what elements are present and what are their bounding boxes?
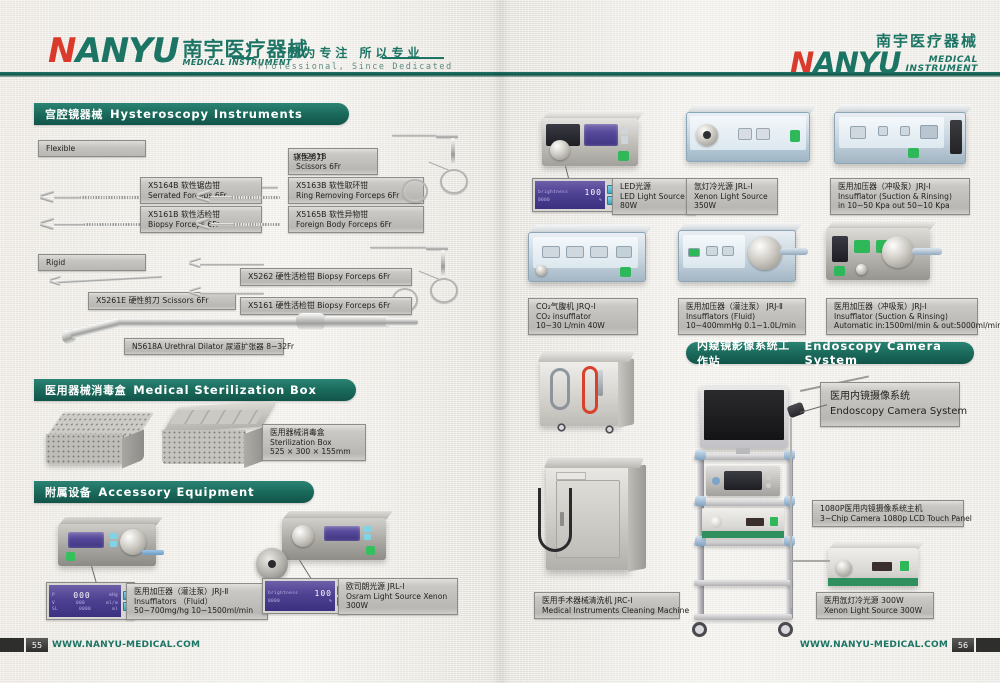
display — [872, 562, 892, 571]
light-guide-cable — [790, 418, 792, 608]
website-url-right: WWW.NANYU-MEDICAL.COM — [800, 638, 948, 652]
disp-unit: mHg — [109, 593, 118, 598]
item-cn: 软性异物钳 — [329, 210, 368, 219]
callout-insufflator-display: P000mHg V000ml/m SL0000ml — [46, 582, 135, 620]
item-en: Insufflator (Suction & Rinsing) — [834, 312, 970, 321]
disp-value: 000 — [76, 601, 85, 606]
power-led — [900, 561, 909, 571]
item-code: X5161B — [148, 210, 179, 219]
disp-key: SL — [52, 607, 58, 612]
item-en: Scissors 6Fr — [162, 296, 208, 305]
device-insufflator-suction-rinsing-1 — [834, 112, 966, 164]
spray-gun — [598, 370, 603, 396]
disp-unit: ml — [112, 607, 118, 612]
device-osram-light-source — [282, 518, 386, 560]
group-label-flexible: Flexible — [38, 140, 146, 157]
item-size: 8~32Fr — [266, 342, 294, 351]
item-cn: 1080P医用内镜摄像系统主机 — [820, 504, 956, 514]
footer-bar-right — [976, 638, 1000, 652]
cart-shelf — [694, 540, 792, 546]
ccu-knob[interactable] — [712, 477, 720, 485]
label-sterilization-box: 医用器械消毒盒 Sterilization Box 525 × 300 × 15… — [262, 424, 366, 461]
item-cn: 医用加压器（灌注泵）JRJ-Ⅱ — [134, 587, 260, 597]
disp-key: P — [52, 593, 55, 598]
label-x5262: X5262 硬性活检钳 Biopsy Forceps 6Fr — [240, 268, 412, 286]
disp-key: 0000 — [268, 599, 280, 604]
item-cn: 软性锯齿钳 — [181, 181, 220, 190]
item-cn-text: 软性剪刀 — [293, 153, 324, 162]
jaw-icon — [40, 219, 54, 228]
jaw-icon — [189, 288, 201, 296]
monitor — [700, 386, 788, 448]
device-cleaning-machine-upper — [540, 352, 636, 426]
item-cn: 医用氙灯冷光源 300W — [824, 596, 926, 606]
item-cn: 尿道扩张器 — [226, 342, 264, 351]
jaw-icon — [196, 219, 210, 228]
label-cleaning-machine: 医用手术器械清洗机 JRC-Ⅰ Medical Instruments Clea… — [534, 592, 680, 619]
page-footer: 55 WWW.NANYU-MEDICAL.COM WWW.NANYU-MEDIC… — [0, 637, 1000, 683]
item-en: Osram Light Source Xenon — [346, 592, 450, 601]
item-en: Sterilization Box — [270, 438, 358, 447]
label-xenon-light-source: 氙灯冷光源 JRL-Ⅰ Xenon Light Source 350W — [686, 178, 778, 215]
jaw-icon — [196, 192, 210, 201]
light-display — [746, 518, 764, 526]
section-title-en: Accessory Equipment — [98, 485, 254, 499]
label-n5618a-dilator: N5618A Urethral Dilator 尿道扩张器 8~32Fr — [124, 338, 284, 355]
label-led-light-source: LED光源 LED Light Source 80W — [612, 178, 696, 215]
item-cn: 硬性剪刀 — [129, 296, 160, 305]
section-header-hysteroscopy: 宫腔镜器械 Hysteroscopy Instruments — [34, 103, 349, 125]
item-spec: 10~30 L/min 40W — [536, 321, 630, 330]
item-en: Xenon Light Source — [694, 192, 770, 201]
item-en: Insufflators (Fluid) — [686, 312, 798, 321]
item-code: X5164B — [148, 181, 179, 190]
finger-ring-icon — [430, 278, 458, 303]
item-code: X5161 — [248, 301, 273, 310]
section-header-camera-system: 内窥镜影像系统工作站 Endoscopy Camera System — [686, 342, 974, 364]
item-spec: 50~700mg/hg 10~1500ml/min — [134, 606, 260, 615]
power-led — [908, 148, 919, 158]
pump-tube — [780, 248, 808, 255]
item-cn: 医用加压器（灌注泵） JRJ-Ⅱ — [686, 302, 798, 312]
power-led — [770, 517, 778, 526]
machine-badge — [556, 472, 586, 480]
power-led — [620, 267, 631, 277]
item-code: X5262 — [248, 272, 273, 281]
section-title-cn: 附属设备 — [45, 484, 91, 500]
pump-tube — [912, 248, 942, 255]
group-label-rigid: Rigid — [38, 254, 146, 271]
finger-ring-icon — [402, 179, 428, 203]
item-spec: 10~400mmHg 0.1~1.0L/min — [686, 321, 798, 330]
disp-key: V — [52, 601, 55, 606]
brand-initial: N — [48, 31, 75, 71]
light-guide-adapter — [256, 548, 288, 580]
section-title-cn: 医用器械消毒盒 — [45, 382, 126, 398]
disp-unit: % — [599, 198, 602, 203]
tagline-english: Professional, Since Dedicated — [258, 62, 453, 72]
footer-bar-left — [0, 638, 24, 652]
item-en: Xenon Light Source 300W — [824, 606, 926, 615]
light-source-base-strip — [702, 531, 784, 538]
label-tower-xenon-source: 医用氙灯冷光源 300W Xenon Light Source 300W — [816, 592, 934, 619]
item-en: Scissors 6Fr — [296, 162, 370, 171]
power-led — [66, 552, 75, 561]
callout-light-display: brightness100 0000% — [262, 578, 349, 614]
base-strip — [828, 578, 918, 586]
display-closeup: P000mHg V000ml/m SL0000ml — [49, 585, 121, 617]
tagline-rule-left — [232, 57, 254, 59]
disp-key: brightness — [538, 190, 568, 195]
item-cn: 硬性活检钳 — [276, 301, 315, 310]
page-gutter-shadow — [492, 0, 510, 683]
item-en: Foreign Body Forceps 6Fr — [296, 220, 416, 229]
display-screen — [68, 532, 104, 548]
jaw-icon — [49, 277, 60, 284]
label-insufflator-fluid-2: 医用加压器（灌注泵） JRJ-Ⅱ Insufflators (Fluid) 10… — [678, 298, 806, 335]
section-header-accessory: 附属设备 Accessory Equipment — [34, 481, 314, 503]
item-spec: Automatic in:1500ml/min & out:5000ml/min — [834, 321, 970, 330]
disp-value: 100 — [585, 188, 602, 197]
item-en: Urethral Dilator — [165, 342, 224, 351]
device-xenon-light-source — [686, 112, 810, 162]
light-output-knob — [550, 140, 570, 160]
item-code: X5163B — [296, 181, 327, 190]
camera-control-unit — [706, 466, 780, 496]
coiled-hose-red — [582, 366, 598, 414]
group-label-flexible-text: Flexible — [46, 144, 138, 153]
item-spec: in 10~50 Kpa out 50~10 Kpa — [838, 201, 962, 210]
display-closeup: brightness100 0000% — [535, 181, 605, 209]
item-cn: 医用手术器械清洗机 JRC-Ⅰ — [542, 596, 672, 606]
callout-led-display: brightness100 0000% — [532, 178, 619, 212]
section-title-en: Endoscopy Camera System — [805, 339, 974, 367]
item-code: N5618A — [132, 342, 162, 351]
roller-pump-head — [748, 236, 782, 270]
light-output-port — [292, 525, 314, 547]
item-en: Insufflators （Fluid） — [134, 597, 260, 606]
device-cleaning-machine-lower — [546, 458, 650, 570]
item-en: Endoscopy Camera System — [830, 406, 950, 419]
section-title-en: Hysteroscopy Instruments — [110, 107, 303, 121]
disp-key: 0000 — [538, 198, 550, 203]
tower-light-source — [702, 508, 784, 538]
device-tower-xenon-source — [828, 548, 918, 586]
coiled-hose-gray — [550, 368, 570, 410]
disp-value: 000 — [73, 591, 90, 600]
catalog-page: NANYU 南宇医疗器械 MEDICAL INSTRUMENT 因为专注 所以专… — [0, 0, 1000, 683]
item-en: LED Light Source — [620, 192, 688, 201]
section-title-en: Medical Sterilization Box — [133, 383, 317, 397]
item-cn: 软性活检钳 — [181, 210, 220, 219]
item-cn: 医用加压器（冲吸泵）JRJ-Ⅰ — [838, 182, 962, 192]
item-size: 525 × 300 × 155mm — [270, 447, 358, 456]
monitor-screen — [704, 390, 784, 440]
black-hose — [538, 488, 572, 552]
label-x5165b: X5165B 软性异物钳 Foreign Body Forceps 6Fr — [288, 206, 424, 233]
cart-shelf — [694, 454, 792, 460]
section-header-sterilization: 医用器械消毒盒 Medical Sterilization Box — [34, 379, 356, 401]
item-cn: 氙灯冷光源 JRL-Ⅰ — [694, 182, 770, 192]
device-co2-insufflator — [528, 232, 646, 282]
device-insufflator-fluid — [58, 524, 156, 566]
item-cn: 硬性活检钳 — [276, 272, 315, 281]
power-led — [366, 546, 375, 555]
tagline-rule-right — [382, 57, 444, 59]
page-number-left: 55 — [26, 638, 48, 652]
item-en: Insufflator (Suction & Rinsing) — [838, 192, 962, 201]
power-led — [618, 151, 629, 161]
disp-value: 100 — [315, 589, 332, 598]
item-cn: 欧司朗光源 JRL-Ⅰ — [346, 582, 450, 592]
disp-unit: ml/m — [106, 601, 118, 606]
disp-value: 0000 — [79, 607, 91, 612]
device-led-light-source — [542, 118, 638, 166]
label-co2-insufflator: CO₂气腹机 JRQ-Ⅰ CO₂ insufflator 10~30 L/min… — [528, 298, 638, 335]
page-number-right: 56 — [952, 638, 974, 652]
section-title-cn: 内窥镜影像系统工作站 — [697, 337, 798, 369]
power-led — [854, 240, 870, 253]
item-cn: CO₂气腹机 JRQ-Ⅰ — [536, 302, 630, 312]
item-cn: LED光源 — [620, 182, 688, 192]
item-en: Biopsy Forceps 6Fr — [317, 301, 390, 310]
label-camera-host: 1080P医用内镜摄像系统主机 3~Chip Camera 1080p LCD … — [812, 500, 964, 527]
brand-wordmark-left: NANYU — [48, 36, 178, 67]
item-en: Medical Instruments Cleaning Machine — [542, 606, 672, 615]
light-output-port — [696, 124, 718, 146]
group-label-rigid-text: Rigid — [46, 258, 138, 267]
section-title-cn: 宫腔镜器械 — [45, 106, 103, 122]
cart-shelf — [694, 614, 792, 620]
label-insufflator-suction-1: 医用加压器（冲吸泵）JRJ-Ⅰ Insufflator (Suction & R… — [830, 178, 970, 215]
cart-shelf — [694, 500, 792, 506]
brand-logo-right: 南宇医疗器械 NANYU MEDICAL INSTRUMENT — [790, 30, 978, 78]
light-output-port — [836, 560, 852, 576]
item-en: Biopsy Forceps 6Fr — [317, 272, 390, 281]
item-spec: 80W — [620, 201, 688, 210]
roller-pump-head — [882, 236, 914, 268]
label-insufflator-suction-2: 医用加压器（冲吸泵）JRJ-Ⅰ Insufflator (Suction & R… — [826, 298, 978, 335]
display-closeup: brightness100 0000% — [265, 581, 335, 611]
ccu-touch-panel[interactable] — [724, 471, 762, 490]
brand-wordmark-rest: ANYU — [75, 31, 178, 71]
label-x5261b-cn-inline: 软性剪刀 — [293, 152, 324, 163]
leader-line — [790, 560, 830, 562]
display-screen — [324, 526, 360, 541]
item-code: X5261E — [96, 296, 126, 305]
jaw-icon — [40, 192, 54, 201]
label-osram-light-source: 欧司朗光源 JRL-Ⅰ Osram Light Source Xenon 300… — [338, 578, 458, 615]
light-output-port — [710, 516, 722, 528]
label-insufflator-fluid: 医用加压器（灌注泵）JRJ-Ⅱ Insufflators （Fluid） 50~… — [126, 583, 268, 620]
item-spec: 350W — [694, 201, 770, 210]
item-code: X5165B — [296, 210, 327, 219]
display-screen — [584, 124, 618, 146]
item-cn: 医用内镜摄像系统 — [830, 391, 950, 404]
item-en: Ring Removing Forceps 6Fr — [296, 191, 416, 200]
disp-unit: % — [329, 599, 332, 604]
item-en: 3~Chip Camera 1080p LCD Touch Panel — [820, 514, 956, 523]
finger-ring-icon — [440, 169, 468, 194]
item-cn: 软性取环钳 — [329, 181, 368, 190]
item-en: CO₂ insufflator — [536, 312, 630, 321]
jaw-icon — [189, 259, 201, 267]
label-endoscopy-camera-system: 医用内镜摄像系统 Endoscopy Camera System — [820, 382, 960, 427]
item-cn: 医用器械消毒盒 — [270, 428, 358, 438]
disp-key: brightness — [268, 591, 298, 596]
item-cn: 医用加压器（冲吸泵）JRJ-Ⅰ — [834, 302, 970, 312]
label-x5161-rigid: X5161 硬性活检钳 Biopsy Forceps 6Fr — [240, 297, 412, 315]
item-spec: 300W — [346, 601, 450, 610]
website-url-left: WWW.NANYU-MEDICAL.COM — [52, 638, 200, 652]
cart-shelf — [694, 580, 792, 586]
power-led — [790, 130, 800, 142]
